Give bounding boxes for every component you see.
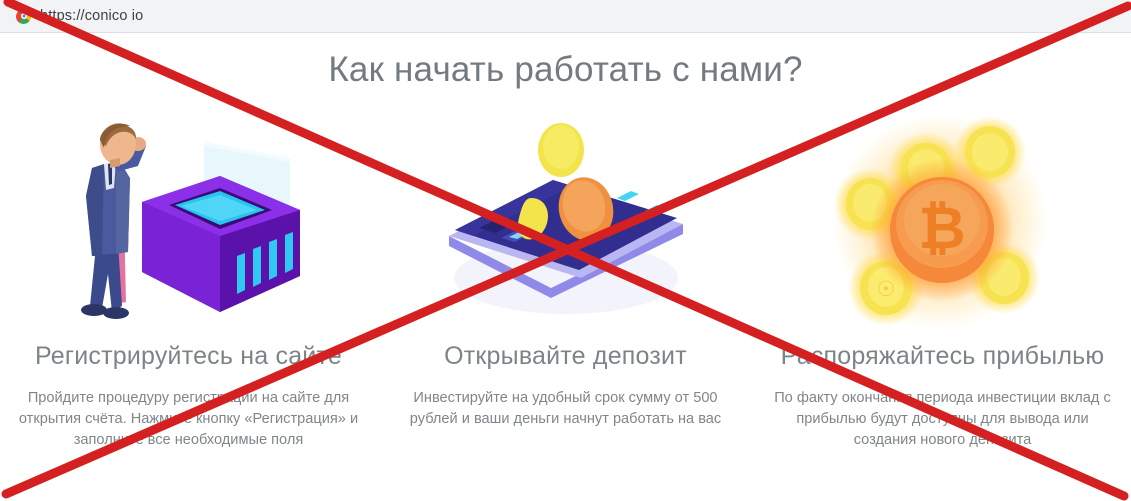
browser-url-bar[interactable]: https://conico io bbox=[0, 0, 1131, 33]
page-title: Как начать работать с нами? bbox=[0, 50, 1131, 90]
step-title: Открывайте депозит bbox=[444, 342, 687, 371]
step-title: Распоряжайтесь прибылью bbox=[781, 342, 1105, 371]
smartphone-with-coins-illustration bbox=[431, 106, 701, 336]
step-card-register: Регистрируйтесь на сайте Пройдите процед… bbox=[0, 106, 377, 451]
step-description: Инвестируйте на удобный срок сумму от 50… bbox=[391, 388, 741, 430]
step-card-deposit: Открывайте депозит Инвестируйте на удобн… bbox=[377, 106, 754, 451]
bitcoin-coins-illustration: ☉ ₿ bbox=[808, 106, 1078, 336]
chrome-icon bbox=[16, 9, 31, 24]
step-title: Регистрируйтесь на сайте bbox=[35, 342, 342, 371]
url-text: https://conico io bbox=[40, 8, 143, 24]
steps-row: Регистрируйтесь на сайте Пройдите процед… bbox=[0, 106, 1131, 451]
svg-text:₿: ₿ bbox=[918, 194, 965, 262]
page-content: Как начать работать с нами? bbox=[0, 34, 1131, 501]
step-description: По факту окончания периода инвестиции вк… bbox=[770, 388, 1116, 451]
step-description: Пройдите процедуру регистрации на сайте … bbox=[13, 388, 365, 451]
man-at-atm-kiosk-illustration bbox=[54, 106, 324, 336]
step-card-profit: ☉ ₿ Распоряжайтесь прибылью По фак bbox=[754, 106, 1131, 451]
